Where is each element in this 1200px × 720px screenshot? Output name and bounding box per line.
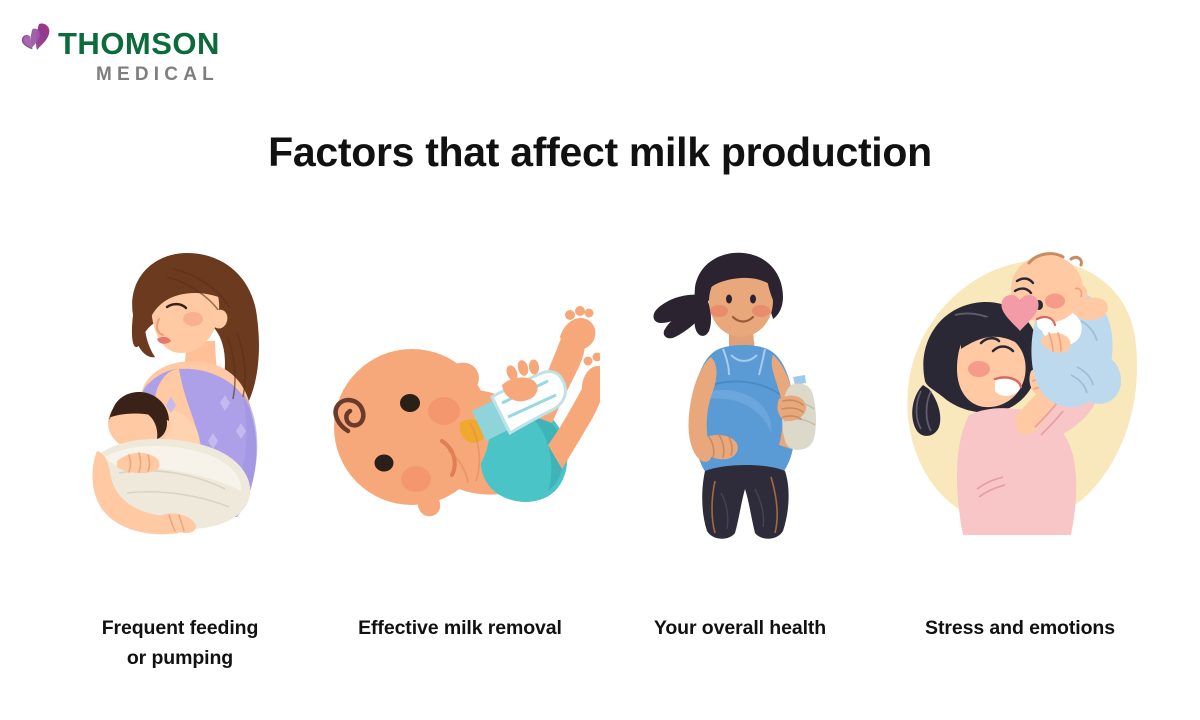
factor-card-frequent-feeding: Frequent feeding or pumping bbox=[40, 215, 320, 673]
factor-caption: Frequent feeding or pumping bbox=[102, 613, 259, 673]
mother-lifting-baby-illustration bbox=[880, 215, 1160, 545]
factor-card-overall-health: Your overall health bbox=[600, 215, 880, 643]
factor-caption: Effective milk removal bbox=[358, 613, 562, 643]
factors-row: Frequent feeding or pumping bbox=[40, 215, 1160, 673]
pregnant-woman-holding-water-bottle-illustration bbox=[600, 215, 880, 545]
mother-breastfeeding-baby-illustration bbox=[40, 215, 320, 545]
factor-caption: Your overall health bbox=[654, 613, 826, 643]
brand-name-secondary: MEDICAL bbox=[58, 65, 220, 84]
brand-logo: THOMSON MEDICAL bbox=[18, 20, 220, 84]
brand-name-primary: THOMSON bbox=[58, 28, 220, 59]
butterfly-heart-logo-icon bbox=[18, 20, 54, 62]
factor-card-stress-emotions: Stress and emotions bbox=[880, 215, 1160, 643]
brand-wordmark: THOMSON MEDICAL bbox=[58, 20, 220, 84]
factor-caption: Stress and emotions bbox=[925, 613, 1115, 643]
baby-drinking-from-bottle-illustration bbox=[320, 215, 600, 545]
page-title: Factors that affect milk production bbox=[0, 129, 1200, 176]
factor-card-effective-milk-removal: Effective milk removal bbox=[320, 215, 600, 643]
